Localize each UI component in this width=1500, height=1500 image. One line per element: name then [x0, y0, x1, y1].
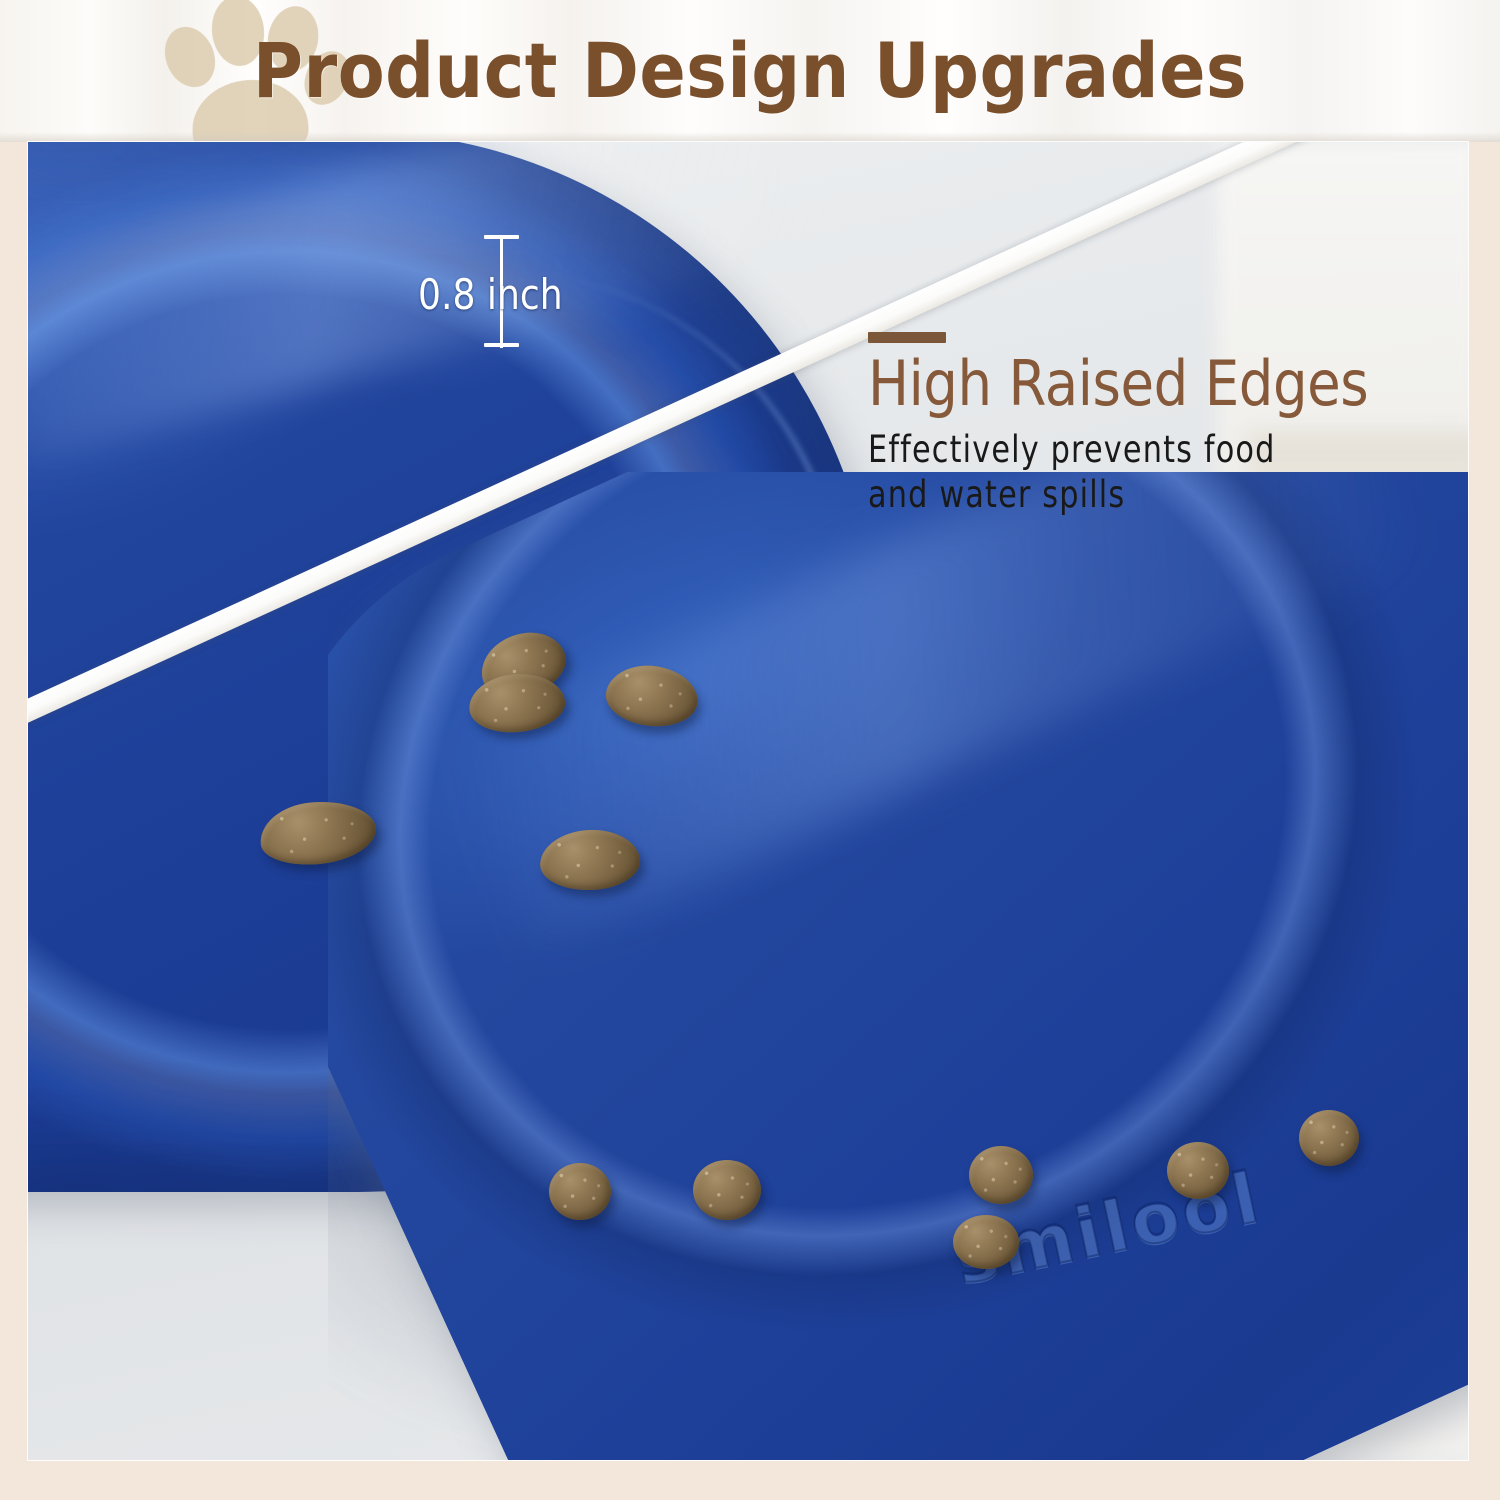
callout-heading: High Raised Edges [868, 351, 1368, 417]
bottom-mat-photo [328, 472, 1468, 1460]
callout-body: Effectively prevents food and water spil… [868, 427, 1334, 517]
product-photo-panel: smilool 0.8 inch High Raised Edges Effec… [28, 142, 1468, 1460]
dimension-cap-bottom [484, 343, 519, 347]
header-banner: Product Design Upgrades [0, 0, 1500, 142]
dimension-label: 0.8 inch [418, 270, 581, 319]
kibble-piece [1167, 1142, 1229, 1199]
kibble-piece [1299, 1110, 1359, 1166]
page-title: Product Design Upgrades [75, 0, 1425, 142]
kibble-piece [549, 1163, 611, 1220]
dimension-annotation: 0.8 inch [460, 230, 630, 360]
kibble-piece [953, 1215, 1019, 1269]
kibble-piece [969, 1146, 1033, 1204]
accent-bar-icon [868, 332, 946, 343]
product-infographic: Product Design Upgrades smilool [0, 0, 1500, 1500]
kibble-piece [693, 1160, 761, 1220]
callout-high-raised-edges: High Raised Edges Effectively prevents f… [868, 332, 1436, 517]
